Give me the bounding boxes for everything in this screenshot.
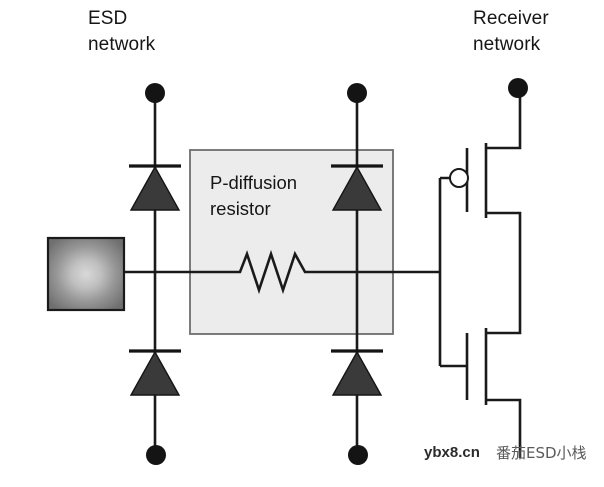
watermark-latin: ybx8.cn (424, 444, 480, 461)
terminal-top-middle (347, 83, 367, 103)
terminal-bottom-left (146, 445, 166, 465)
pmos-drain-wire (486, 213, 520, 272)
io-pad (48, 238, 124, 310)
terminal-top-left (145, 83, 165, 103)
esd-network-label-line2: network (88, 34, 156, 55)
resistor-box-label-line2: resistor (210, 198, 271, 219)
pmos-gate-bubble-icon (450, 169, 468, 187)
resistor-box-label-line1: P-diffusion (210, 172, 297, 193)
circuit-schematic-svg: ESD network Receiver network P-diffusion… (0, 0, 604, 487)
terminal-bottom-middle (348, 445, 368, 465)
esd-protection-circuit-figure: ESD network Receiver network P-diffusion… (0, 0, 604, 487)
nmos-drain-wire (486, 272, 520, 333)
receiver-network-label-line2: network (473, 34, 541, 55)
esd-diode-top-left-triangle (131, 167, 179, 210)
esd-network-label-line1: ESD (88, 8, 127, 29)
terminal-top-right (508, 78, 528, 98)
esd-diode-bottom-right-triangle (333, 352, 381, 395)
watermark-cjk: 番茄ESD小栈 (496, 444, 587, 462)
esd-diode-bottom-left-triangle (131, 352, 179, 395)
receiver-network-label-line1: Receiver (473, 8, 549, 29)
